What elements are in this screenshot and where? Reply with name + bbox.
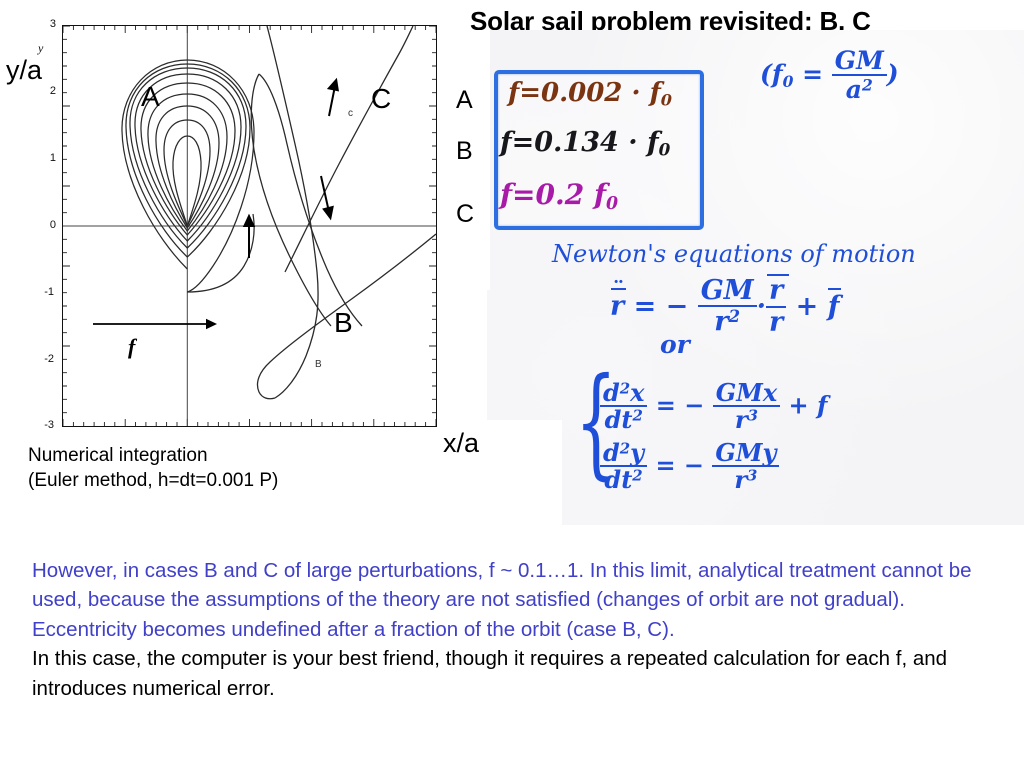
eq-vec-dot: · — [757, 291, 766, 322]
newton-vector-equation: r = − GMr2·rr + f — [610, 277, 839, 338]
eq-b-unit-sub: 0 — [659, 140, 671, 160]
eq-vec-rhat-den: r — [766, 308, 786, 338]
eq-y-var: y — [630, 438, 644, 467]
axis-ticks-right — [429, 26, 436, 413]
force-arrow — [91, 309, 241, 339]
component-equation-y: d2ydt2 = − GMyr3 — [600, 440, 779, 494]
x-axis-title: x/a — [443, 428, 479, 459]
eq-vec-lhs: r — [610, 291, 624, 322]
eq-b-lhs: f — [500, 127, 512, 158]
eq-vec-rhat-fraction: rr — [766, 277, 786, 338]
f0-definition: (f0 = GMa2) — [760, 48, 899, 104]
eq-b-value: 0.134 — [534, 127, 619, 158]
eq-vec-equals: = − — [624, 291, 697, 322]
curve-label-b: B — [334, 307, 353, 339]
caption-line-2: (Euler method, h=dt=0.001 P) — [28, 468, 278, 493]
arrow-up-c — [329, 80, 338, 116]
eq-c-value: 0.2 — [536, 178, 585, 211]
eq-vec-rhat-num: r — [766, 277, 786, 307]
eq-y-rhs-fraction: GMyr3 — [712, 440, 779, 494]
y-tick-2: 2 — [30, 85, 56, 97]
eq-c-unit-sub: 0 — [606, 194, 618, 214]
y-tick-minus3: -3 — [28, 419, 54, 431]
figure-caption: Numerical integration (Euler method, h=d… — [28, 443, 278, 493]
eq-x-rhs-den: r3 — [713, 407, 780, 434]
eq-vec-plus: + — [786, 291, 827, 322]
force-label: f — [128, 334, 135, 360]
eq-x-rhs-den-exp: 3 — [748, 407, 758, 425]
equation-case-b: f=0.134 · f0 — [500, 127, 670, 160]
orbit-figure-panel: y/a y 3 2 1 0 -1 -2 -3 — [0, 0, 452, 520]
eq-x-d-exp: 2 — [620, 380, 630, 398]
eq-vec-gm-fraction: GMr2 — [698, 277, 757, 338]
eq-a-dot: · — [622, 78, 649, 108]
equation-case-c: f=0.2 f0 — [500, 178, 618, 214]
eq-b-unit: f — [647, 127, 659, 158]
eq-c-lhs: f — [500, 178, 512, 211]
y-axis-title: y/a — [6, 55, 42, 86]
eq-c-unit: f — [594, 178, 606, 211]
handwriting-region-mask-bottom — [487, 420, 562, 525]
or-connector: or — [660, 330, 690, 359]
eq-x-rhs-den-base: r — [735, 405, 748, 434]
eq-x-rhs-num: GMx — [713, 380, 780, 407]
eq-y-rhs-den-base: r — [734, 465, 747, 494]
eq-b-dot: · — [619, 127, 647, 158]
axis-ticks-left — [63, 26, 70, 413]
axis-ticks-top — [63, 26, 436, 33]
f0-numerator: GM — [832, 48, 887, 76]
eq-x-rhs-fraction: GMxr3 — [713, 380, 780, 434]
y-tick-1: 1 — [30, 152, 56, 164]
eq-y-lhs-den: dt2 — [600, 467, 647, 494]
y-tick-minus1: -1 — [28, 286, 54, 298]
eq-vec-gm-den-exp: 2 — [728, 306, 740, 326]
eq-c-equals: = — [512, 178, 535, 211]
trajectory-b — [257, 26, 436, 399]
y-tick-minus2: -2 — [28, 353, 54, 365]
body-paragraph-blue: However, in cases B and C of large pertu… — [32, 556, 1007, 644]
eq-y-lhs-fraction: d2ydt2 — [600, 440, 647, 494]
y-tick-3: 3 — [30, 18, 56, 30]
plot-frame: A B C c B — [62, 25, 437, 427]
eq-y-rhs-den-exp: 3 — [747, 467, 757, 485]
eq-x-force: f — [817, 391, 827, 420]
curve-label-a: A — [141, 81, 160, 113]
axis-ticks-bottom — [63, 419, 436, 426]
y-axis-variable-label: y — [38, 41, 43, 56]
f0-denominator: a2 — [832, 76, 887, 104]
eq-vec-gm-den-base: r — [714, 307, 728, 338]
eq-b-equals: = — [512, 127, 535, 158]
eq-y-dt-exp: 2 — [632, 467, 642, 485]
eq-a-unit-sub: 0 — [661, 91, 672, 110]
eq-x-plus: + — [780, 391, 817, 420]
curve-label-c-small: c — [348, 108, 353, 119]
body-paragraph-black: In this case, the computer is your best … — [32, 644, 1007, 703]
body-text-block: However, in cases B and C of large pertu… — [32, 556, 1007, 703]
equation-case-a: f=0.002 · f0 — [508, 78, 672, 110]
f0-equals: = — [793, 60, 831, 89]
curve-label-b-small: B — [315, 359, 322, 370]
eq-a-unit: f — [650, 78, 661, 108]
f0-den-base: a — [846, 75, 862, 104]
eq-x-equals: = − — [647, 391, 712, 420]
y-tick-0: 0 — [30, 219, 56, 231]
eq-y-lhs-num: d2y — [600, 440, 647, 467]
eq-x-dt-exp: 2 — [632, 407, 642, 425]
f0-den-exp: 2 — [862, 76, 873, 95]
eq-y-d-exp: 2 — [620, 440, 630, 458]
eq-vec-gm-num: GM — [698, 277, 757, 307]
eq-x-d: d — [603, 378, 620, 407]
eq-y-equals: = − — [647, 451, 712, 480]
component-equation-x: d2xdt2 = − GMxr3 + f — [600, 380, 827, 434]
eq-vec-force: f — [828, 291, 840, 322]
eq-y-dt: dt — [604, 465, 632, 494]
eq-a-value: 0.002 — [541, 78, 622, 108]
newton-title: Newton's equations of motion — [552, 240, 916, 268]
f0-lhs-sub: 0 — [783, 72, 794, 91]
f0-open-paren: ( — [760, 60, 772, 89]
eq-x-lhs-den: dt2 — [600, 407, 647, 434]
eq-x-var: x — [630, 378, 644, 407]
eq-a-equals: = — [519, 78, 541, 108]
eq-c-space — [584, 178, 594, 211]
f0-close-paren: ) — [887, 60, 899, 89]
eq-y-rhs-num: GMy — [712, 440, 779, 467]
curve-label-c: C — [371, 83, 391, 115]
arrow-up-a — [244, 216, 253, 258]
f0-fraction: GMa2 — [832, 48, 887, 104]
case-label-a: A — [456, 86, 473, 115]
eq-x-dt: dt — [605, 405, 633, 434]
f0-lhs: f — [772, 60, 783, 89]
eq-y-d: d — [603, 438, 620, 467]
eq-a-lhs: f — [508, 78, 519, 108]
trajectory-c — [251, 26, 413, 326]
eq-y-rhs-den: r3 — [712, 467, 779, 494]
eq-vec-gm-den: r2 — [698, 307, 757, 338]
caption-line-1: Numerical integration — [28, 443, 278, 468]
case-label-c: C — [456, 200, 474, 229]
case-label-b: B — [456, 137, 473, 166]
eq-x-lhs-num: d2x — [600, 380, 647, 407]
eq-x-lhs-fraction: d2xdt2 — [600, 380, 647, 434]
